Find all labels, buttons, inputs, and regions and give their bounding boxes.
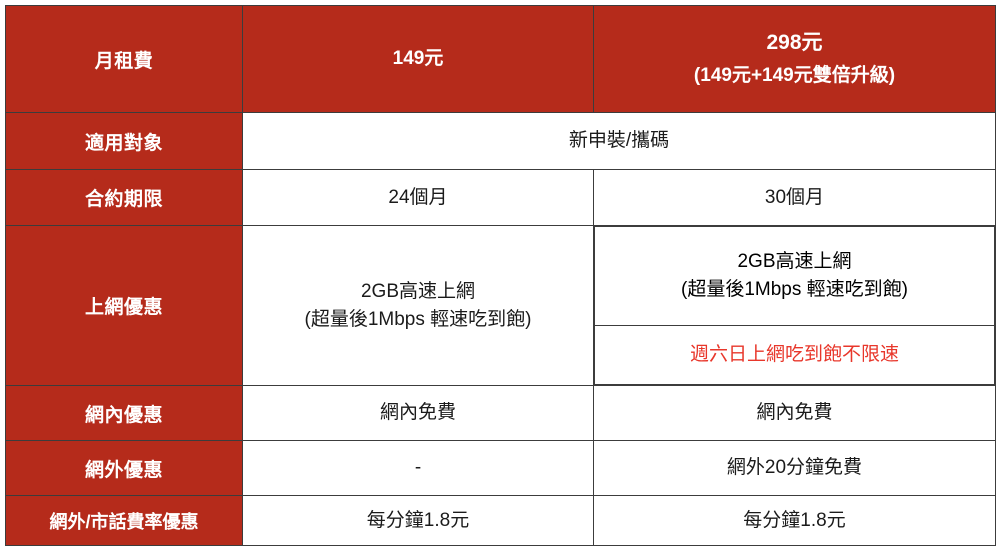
cell-plan-a-offnet-rate: 每分鐘1.8元 [243,496,594,546]
table-row-data-benefit: 上網優惠 2GB高速上網 (超量後1Mbps 輕速吃到飽) 2GB高速上網 (超… [6,226,996,386]
plan-b-data-standard: 2GB高速上網 (超量後1Mbps 輕速吃到飽) [595,227,995,326]
row-label-onnet-benefit: 網內優惠 [6,386,243,441]
cell-plan-a-monthly-fee: 149元 [243,6,594,113]
row-label-data-benefit: 上網優惠 [6,226,243,386]
cell-plan-b-offnet-rate: 每分鐘1.8元 [594,496,996,546]
plan-b-data-subtable: 2GB高速上網 (超量後1Mbps 輕速吃到飽) 週六日上網吃到飽不限速 [594,226,995,385]
row-label-monthly-fee: 月租費 [6,6,243,113]
plan-b-data-subrow-weekend: 週六日上網吃到飽不限速 [595,326,995,385]
cell-plan-b-data-benefit: 2GB高速上網 (超量後1Mbps 輕速吃到飽) 週六日上網吃到飽不限速 [594,226,996,386]
row-label-offnet-rate: 網外/市話費率優惠 [6,496,243,546]
plan-b-data-line2: (超量後1Mbps 輕速吃到飽) [595,276,994,304]
pricing-comparison-table: 月租費 149元 298元 (149元+149元雙倍升級) 適用對象 新申裝/攜… [5,5,996,546]
table-row-contract-term: 合約期限 24個月 30個月 [6,170,996,226]
cell-plan-a-contract-term: 24個月 [243,170,594,226]
plan-b-data-line1: 2GB高速上網 [595,248,994,276]
row-label-offnet-benefit: 網外優惠 [6,441,243,496]
plan-b-weekend-highlight: 週六日上網吃到飽不限速 [690,344,899,365]
cell-plan-b-onnet-benefit: 網內免費 [594,386,996,441]
plan-a-data-line1: 2GB高速上網 [243,278,593,306]
cell-plan-a-data-benefit: 2GB高速上網 (超量後1Mbps 輕速吃到飽) [243,226,594,386]
table-row-eligibility: 適用對象 新申裝/攜碼 [6,113,996,170]
cell-plan-b-offnet-benefit: 網外20分鐘免費 [594,441,996,496]
table-row-offnet-benefit: 網外優惠 - 網外20分鐘免費 [6,441,996,496]
plan-b-price-main: 298元 [594,28,995,58]
plan-a-data-line2: (超量後1Mbps 輕速吃到飽) [243,306,593,334]
cell-plan-b-contract-term: 30個月 [594,170,996,226]
cell-plan-a-onnet-benefit: 網內免費 [243,386,594,441]
cell-plan-a-offnet-benefit: - [243,441,594,496]
table-row-offnet-rate: 網外/市話費率優惠 每分鐘1.8元 每分鐘1.8元 [6,496,996,546]
table-row-monthly-fee: 月租費 149元 298元 (149元+149元雙倍升級) [6,6,996,113]
row-label-eligibility: 適用對象 [6,113,243,170]
plan-b-data-weekend: 週六日上網吃到飽不限速 [595,326,995,385]
plan-b-price-sub: (149元+149元雙倍升級) [594,62,995,90]
cell-plan-b-monthly-fee: 298元 (149元+149元雙倍升級) [594,6,996,113]
plan-b-data-subrow-standard: 2GB高速上網 (超量後1Mbps 輕速吃到飽) [595,227,995,326]
table-row-onnet-benefit: 網內優惠 網內免費 網內免費 [6,386,996,441]
cell-merged-eligibility: 新申裝/攜碼 [243,113,996,170]
row-label-contract-term: 合約期限 [6,170,243,226]
